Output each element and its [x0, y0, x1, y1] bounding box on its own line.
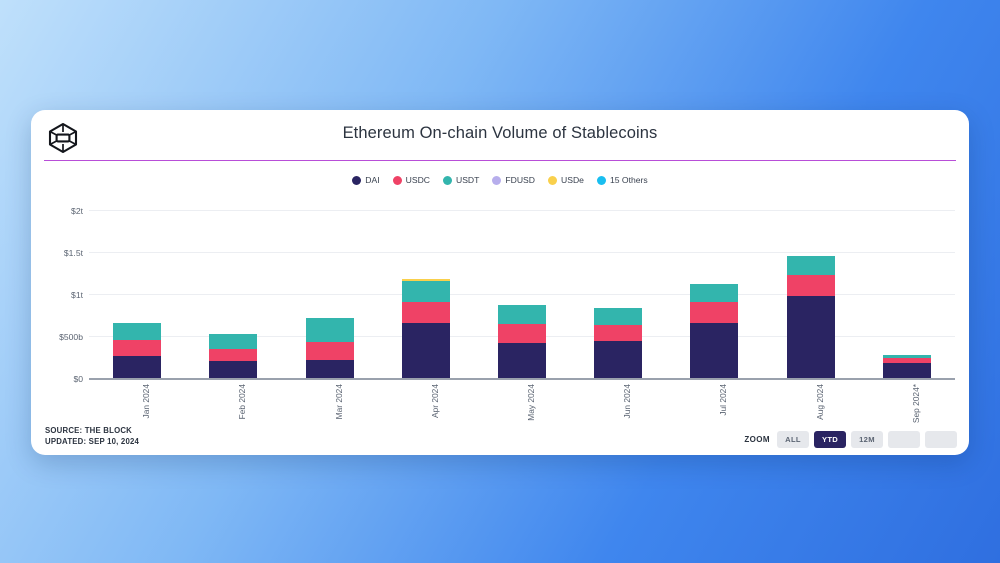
legend-item-dai[interactable]: DAI	[352, 175, 379, 185]
x-axis-tick-label: Jun 2024	[622, 384, 632, 418]
bar-segment-dai	[402, 323, 450, 378]
legend-swatch-icon	[352, 176, 361, 185]
legend-item-usde[interactable]: USDe	[548, 175, 584, 185]
source-caption: SOURCE: THE BLOCK UPDATED: SEP 10, 2024	[45, 425, 139, 447]
legend-label: USDC	[406, 175, 430, 185]
screenshot-stage: Ethereum On-chain Volume of Stablecoins …	[0, 0, 1000, 563]
bar-segment-usdt	[209, 334, 257, 349]
zoom-button-5[interactable]	[925, 431, 957, 448]
bar-segment-usdc	[594, 325, 642, 341]
bar-segment-usdt	[306, 318, 354, 342]
x-axis-tick-label: Jan 2024	[141, 384, 151, 418]
zoom-button-12m[interactable]: 12M	[851, 431, 883, 448]
updated-line: UPDATED: SEP 10, 2024	[45, 436, 139, 447]
y-axis-tick-label: $1t	[31, 290, 83, 300]
chart-legend: DAIUSDCUSDTFDUSDUSDe15 Others	[31, 175, 969, 185]
bar-segment-usdt	[498, 305, 546, 325]
x-axis-line	[89, 378, 955, 380]
bar-column[interactable]	[594, 308, 642, 378]
y-axis-tick-label: $2t	[31, 206, 83, 216]
zoom-button-ytd[interactable]: YTD	[814, 431, 846, 448]
bar-segment-usdc	[209, 349, 257, 361]
legend-swatch-icon	[492, 176, 501, 185]
bar-segment-usdc	[402, 302, 450, 323]
bar-segment-dai	[498, 343, 546, 378]
plot-area: $0$500b$1t$1.5t$2tJan 2024Feb 2024Mar 20…	[31, 198, 969, 380]
gridline	[89, 252, 955, 253]
bar-column[interactable]	[402, 279, 450, 378]
bar-column[interactable]	[498, 305, 546, 378]
bar-segment-usdt	[402, 281, 450, 301]
legend-item-15-others[interactable]: 15 Others	[597, 175, 648, 185]
bar-segment-dai	[306, 360, 354, 378]
legend-label: USDe	[561, 175, 584, 185]
bar-segment-dai	[113, 356, 161, 378]
source-line: SOURCE: THE BLOCK	[45, 425, 139, 436]
bar-segment-usdt	[690, 284, 738, 302]
bar-column[interactable]	[690, 284, 738, 378]
legend-swatch-icon	[443, 176, 452, 185]
x-axis-tick-label: Mar 2024	[334, 384, 344, 419]
bar-segment-usdt	[113, 323, 161, 339]
zoom-label: ZOOM	[744, 435, 770, 444]
bar-segment-dai	[787, 296, 835, 378]
legend-label: 15 Others	[610, 175, 648, 185]
bar-segment-usdc	[690, 302, 738, 323]
legend-item-usdc[interactable]: USDC	[393, 175, 430, 185]
legend-label: FDUSD	[505, 175, 535, 185]
legend-swatch-icon	[393, 176, 402, 185]
legend-item-usdt[interactable]: USDT	[443, 175, 479, 185]
zoom-controls: ZOOM ALLYTD12M	[744, 431, 957, 448]
y-axis-tick-label: $500b	[31, 332, 83, 342]
bar-column[interactable]	[787, 256, 835, 378]
bar-column[interactable]	[209, 334, 257, 379]
x-axis-tick-label: Feb 2024	[237, 384, 247, 419]
page-title: Ethereum On-chain Volume of Stablecoins	[31, 124, 969, 143]
y-axis-tick-label: $1.5t	[31, 248, 83, 258]
bar-segment-usdt	[594, 308, 642, 325]
legend-label: DAI	[365, 175, 379, 185]
y-axis-tick-label: $0	[31, 374, 83, 384]
bar-segment-dai	[690, 323, 738, 378]
legend-swatch-icon	[548, 176, 557, 185]
bar-column[interactable]	[113, 323, 161, 378]
bar-segment-dai	[883, 363, 931, 378]
bar-segment-dai	[594, 341, 642, 378]
x-axis-tick-label: Apr 2024	[430, 384, 440, 418]
x-axis-tick-label: Jul 2024	[718, 384, 728, 416]
bar-column[interactable]	[306, 318, 354, 378]
zoom-button-all[interactable]: ALL	[777, 431, 809, 448]
bar-segment-usdc	[787, 275, 835, 296]
legend-item-fdusd[interactable]: FDUSD	[492, 175, 535, 185]
bar-segment-usdc	[113, 340, 161, 356]
bar-column[interactable]	[883, 355, 931, 378]
x-axis-tick-label: Aug 2024	[815, 384, 825, 420]
legend-label: USDT	[456, 175, 479, 185]
x-axis-tick-label: Sep 2024*	[911, 384, 921, 423]
bar-segment-usdt	[787, 256, 835, 275]
x-axis-tick-label: May 2024	[526, 384, 536, 421]
gridline	[89, 210, 955, 211]
header-divider	[44, 160, 956, 161]
legend-swatch-icon	[597, 176, 606, 185]
bar-segment-dai	[209, 361, 257, 378]
bar-segment-usdc	[498, 324, 546, 342]
zoom-button-4[interactable]	[888, 431, 920, 448]
bar-segment-usdc	[306, 342, 354, 360]
chart-card: Ethereum On-chain Volume of Stablecoins …	[31, 110, 969, 455]
